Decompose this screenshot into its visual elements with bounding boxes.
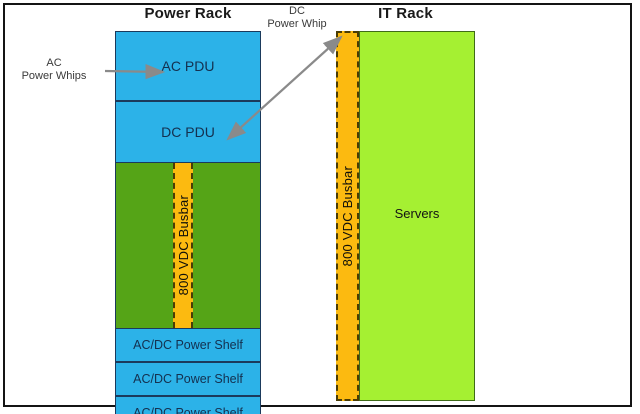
ac-dc-power-shelf-label: AC/DC Power Shelf: [133, 372, 243, 386]
servers-block[interactable]: Servers: [359, 31, 475, 401]
dc-pdu-block[interactable]: DC PDU: [115, 101, 261, 163]
power-rack: AC PDU DC PDU 800 VDC Busbar AC/DC Power…: [115, 31, 261, 400]
dc-pdu-label: DC PDU: [161, 124, 215, 140]
it-rack-busbar[interactable]: 800 VDC Busbar: [336, 31, 359, 401]
ac-dc-power-shelf[interactable]: AC/DC Power Shelf: [115, 328, 261, 362]
ac-dc-power-shelf[interactable]: AC/DC Power Shelf: [115, 362, 261, 396]
it-rack-busbar-label: 800 VDC Busbar: [340, 166, 355, 266]
power-rack-title: Power Rack: [115, 5, 261, 22]
it-rack-title: IT Rack: [336, 5, 475, 22]
diagram-canvas: Power Rack IT Rack AC PDU DC PDU 800 VDC…: [0, 0, 640, 414]
power-rack-busbar[interactable]: 800 VDC Busbar: [173, 163, 193, 328]
servers-label: Servers: [395, 206, 440, 221]
ac-dc-power-shelf-label: AC/DC Power Shelf: [133, 406, 243, 414]
power-rack-busbar-label: 800 VDC Busbar: [176, 195, 191, 295]
ac-dc-power-shelf-label: AC/DC Power Shelf: [133, 338, 243, 352]
dc-power-whip-annotation: DC Power Whip: [258, 5, 336, 31]
ac-pdu-label: AC PDU: [162, 58, 215, 74]
ac-dc-power-shelf[interactable]: AC/DC Power Shelf: [115, 396, 261, 414]
ac-power-whips-annotation: AC Power Whips: [6, 57, 102, 83]
ac-pdu-block[interactable]: AC PDU: [115, 31, 261, 101]
it-rack: 800 VDC Busbar Servers: [336, 31, 475, 401]
